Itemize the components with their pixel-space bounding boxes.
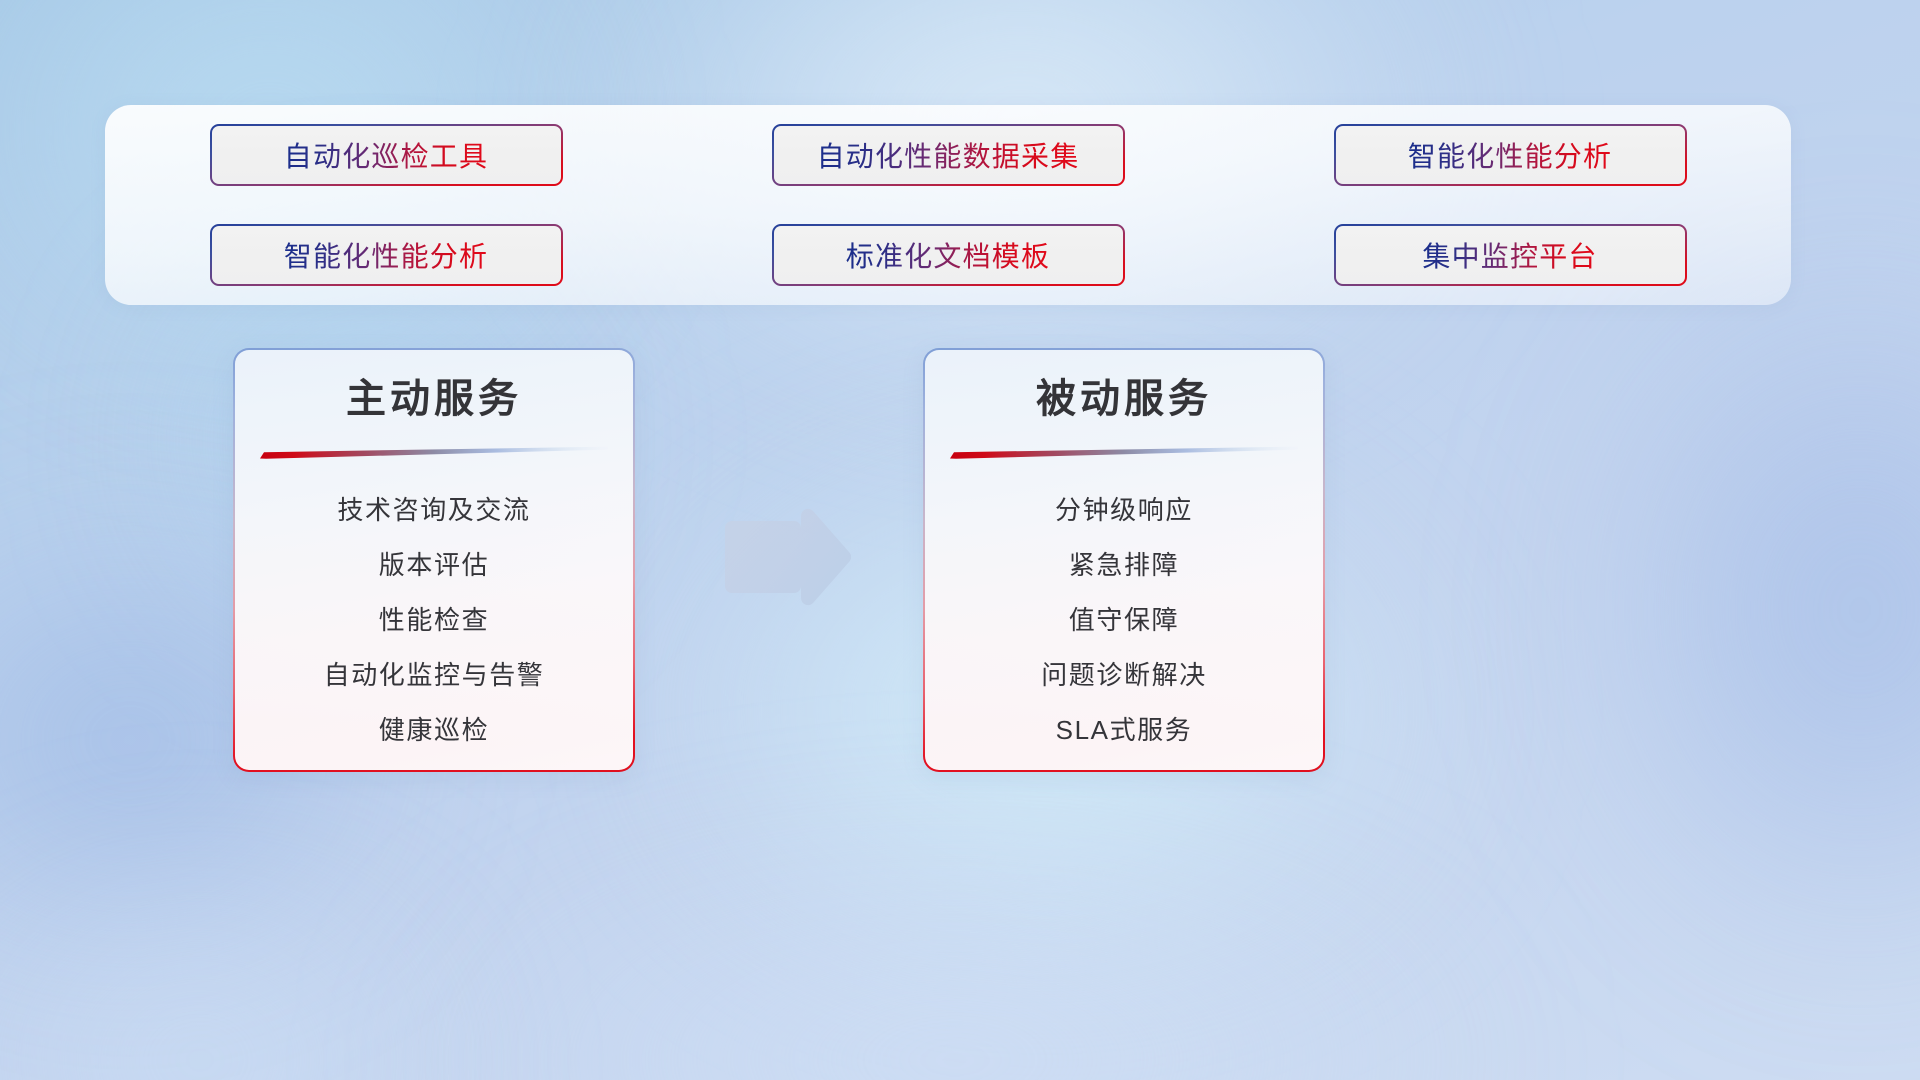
capability-button-label: 智能化性能分析 bbox=[284, 235, 488, 275]
service-card-reactive: 被动服务 分钟级响应 紧急排障 值守保障 问题诊断解决 SLA式服务 bbox=[923, 348, 1325, 772]
capability-button-centralized-monitoring-platform[interactable]: 集中监控平台 bbox=[1334, 224, 1687, 286]
capability-button-label: 智能化性能分析 bbox=[1408, 135, 1612, 175]
list-item: 分钟级响应 bbox=[925, 482, 1323, 537]
capability-button-intelligent-performance-analysis-1[interactable]: 智能化性能分析 bbox=[1334, 124, 1687, 186]
service-card-title: 被动服务 bbox=[925, 376, 1323, 422]
capability-button-automated-performance-data-collection[interactable]: 自动化性能数据采集 bbox=[772, 124, 1125, 186]
list-item: 问题诊断解决 bbox=[925, 647, 1323, 702]
capability-button-standardized-document-template[interactable]: 标准化文档模板 bbox=[772, 224, 1125, 286]
service-item-list: 分钟级响应 紧急排障 值守保障 问题诊断解决 SLA式服务 bbox=[925, 482, 1323, 757]
list-item: 值守保障 bbox=[925, 592, 1323, 647]
capability-button-automated-inspection-tool[interactable]: 自动化巡检工具 bbox=[210, 124, 563, 186]
capability-button-label: 自动化巡检工具 bbox=[284, 135, 488, 175]
list-item: SLA式服务 bbox=[925, 702, 1323, 757]
list-item: 紧急排障 bbox=[925, 537, 1323, 592]
service-item-list: 技术咨询及交流 版本评估 性能检查 自动化监控与告警 健康巡检 bbox=[235, 482, 633, 757]
capability-button-label: 集中监控平台 bbox=[1422, 235, 1597, 275]
list-item: 技术咨询及交流 bbox=[235, 482, 633, 537]
list-item: 自动化监控与告警 bbox=[235, 647, 633, 702]
arrow-right-icon bbox=[718, 500, 853, 608]
service-card-title: 主动服务 bbox=[235, 376, 633, 422]
capability-button-label: 标准化文档模板 bbox=[846, 235, 1050, 275]
title-divider bbox=[260, 446, 608, 460]
capability-button-label: 自动化性能数据采集 bbox=[817, 135, 1080, 175]
list-item: 健康巡检 bbox=[235, 702, 633, 757]
title-divider bbox=[950, 446, 1298, 460]
capabilities-grid: 自动化巡检工具 自动化性能数据采集 智能化性能分析 智能化性能分析 标准化文档模… bbox=[105, 105, 1791, 305]
capabilities-panel: 自动化巡检工具 自动化性能数据采集 智能化性能分析 智能化性能分析 标准化文档模… bbox=[105, 105, 1791, 305]
list-item: 性能检查 bbox=[235, 592, 633, 647]
capability-button-intelligent-performance-analysis-2[interactable]: 智能化性能分析 bbox=[210, 224, 563, 286]
list-item: 版本评估 bbox=[235, 537, 633, 592]
service-card-proactive: 主动服务 技术咨询及交流 版本评估 性能检查 自动化监控与告警 健康巡检 bbox=[233, 348, 635, 772]
